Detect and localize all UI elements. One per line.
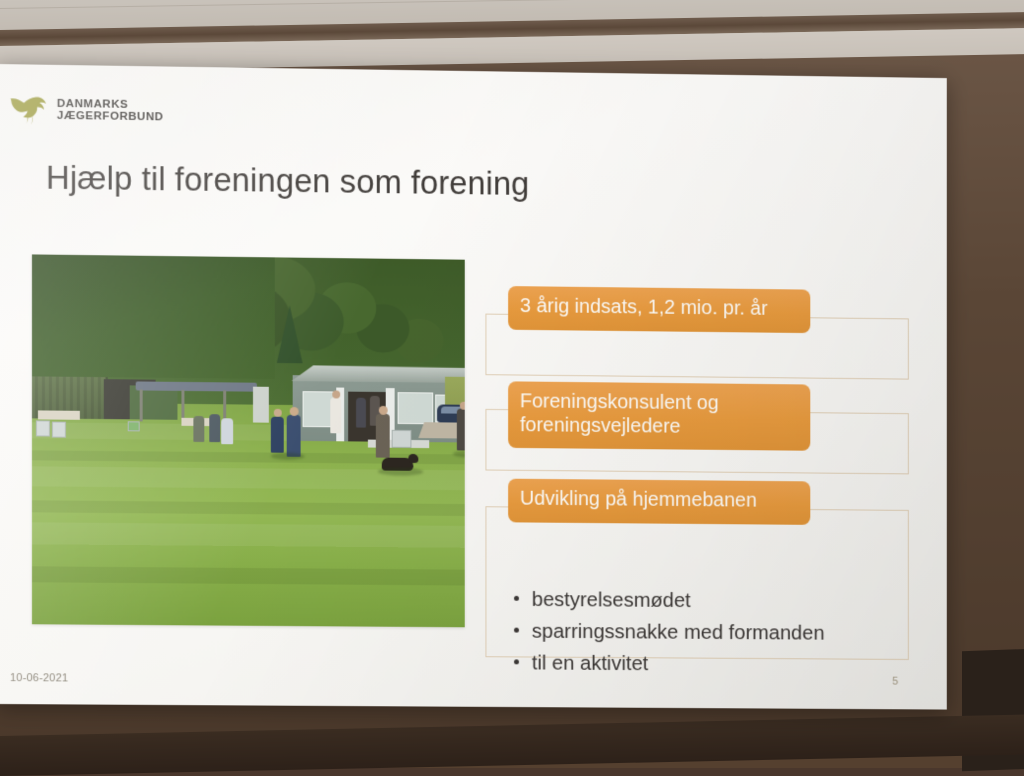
- person: [209, 414, 220, 442]
- dense-tree-block: [32, 254, 275, 378]
- slide-photo: [32, 254, 465, 627]
- person: [457, 409, 465, 451]
- content-column: 3 årig indsats, 1,2 mio. pr. år Forening…: [463, 266, 924, 272]
- slide-page-number: 5: [892, 676, 898, 688]
- chair: [36, 420, 50, 436]
- chair: [52, 422, 66, 438]
- person-head: [332, 390, 340, 398]
- clubhouse-window: [398, 392, 434, 424]
- list-item: bestyrelsesmødet: [508, 584, 900, 619]
- person: [356, 398, 366, 428]
- person-head: [290, 407, 299, 416]
- mow-stripe: [32, 522, 465, 547]
- slide-date: 10-06-2021: [10, 672, 68, 684]
- person: [330, 397, 341, 433]
- flying-duck-icon: [8, 92, 48, 127]
- person-with-dog: [376, 414, 390, 458]
- person: [271, 417, 284, 453]
- presentation-slide: DANMARKS JÆGERFORBUND Hjælp til forening…: [0, 64, 947, 710]
- person: [193, 416, 204, 442]
- person-head: [460, 402, 465, 410]
- conifer-tree: [277, 305, 303, 363]
- slide-title: Hjælp til foreningen som forening: [46, 159, 529, 203]
- person-head: [274, 409, 282, 417]
- list-item: sparringssnakke med formanden: [508, 616, 900, 650]
- clubhouse-roof: [283, 365, 465, 383]
- box-header-1: 3 årig indsats, 1,2 mio. pr. år: [508, 286, 810, 333]
- bullet-list: bestyrelsesmødet sparringssnakke med for…: [508, 584, 900, 682]
- picnic-table: [38, 410, 80, 419]
- folding-chair: [392, 430, 412, 448]
- white-wall-panel: [253, 387, 269, 423]
- mow-stripe-dark: [32, 566, 465, 585]
- canopy-roof: [136, 381, 257, 391]
- dog-head: [408, 454, 418, 463]
- list-item: til en aktivitet: [508, 647, 900, 681]
- box-header-3: Udvikling på hjemmebanen: [508, 479, 810, 525]
- organization-logo: DANMARKS JÆGERFORBUND: [8, 92, 163, 128]
- canopy-post: [140, 389, 143, 421]
- projection-screen: DANMARKS JÆGERFORBUND Hjælp til forening…: [0, 64, 947, 710]
- logo-line-2: JÆGERFORBUND: [57, 110, 164, 124]
- ground-shadow: [271, 453, 305, 460]
- box-header-2: Foreningskonsulent og foreningsvejledere: [508, 381, 810, 451]
- person: [221, 418, 233, 444]
- person-head: [379, 406, 388, 415]
- crate: [128, 421, 140, 431]
- logo-wordmark: DANMARKS JÆGERFORBUND: [57, 97, 164, 123]
- person: [287, 415, 301, 457]
